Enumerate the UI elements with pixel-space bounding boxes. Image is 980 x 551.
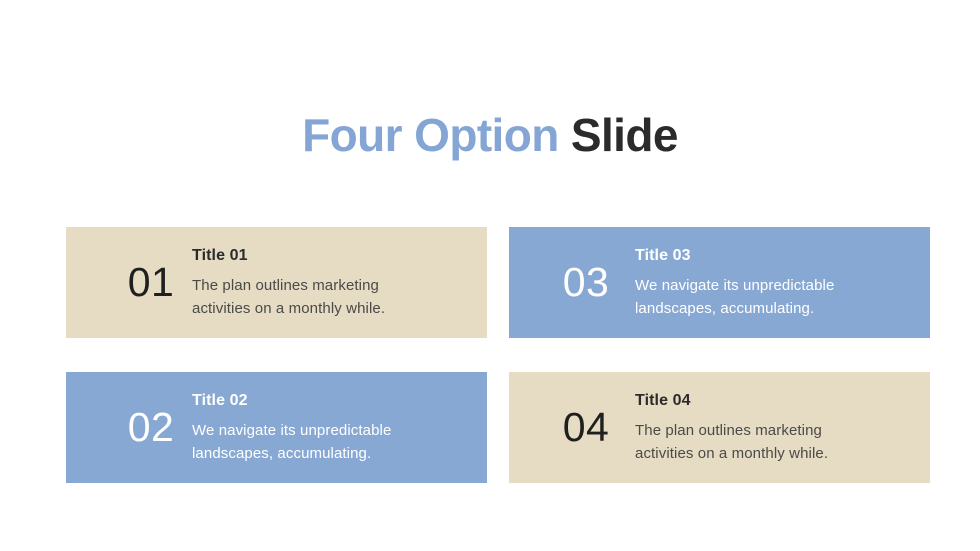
option-card-01[interactable]: 01 Title 01 The plan outlines marketing … — [66, 227, 487, 338]
option-card-02[interactable]: 02 Title 02 We navigate its unpredictabl… — [66, 372, 487, 483]
option-description-01: The plan outlines marketing activities o… — [192, 274, 487, 320]
slide-canvas: Four Option Slide 01 Title 01 The plan o… — [0, 0, 980, 551]
option-number-02: 02 — [114, 407, 188, 448]
option-number-04: 04 — [549, 407, 623, 448]
option-card-04[interactable]: 04 Title 04 The plan outlines marketing … — [509, 372, 930, 483]
option-title-01: Title 01 — [192, 246, 487, 266]
page-title-accent: Four Option — [302, 109, 571, 161]
option-description-03: We navigate its unpredictable landscapes… — [635, 274, 930, 320]
option-title-02: Title 02 — [192, 391, 487, 411]
option-title-03: Title 03 — [635, 246, 930, 266]
option-body-02: Title 02 We navigate its unpredictable l… — [192, 391, 487, 465]
option-description-02: We navigate its unpredictable landscapes… — [192, 419, 487, 465]
option-body-03: Title 03 We navigate its unpredictable l… — [635, 246, 930, 320]
option-title-04: Title 04 — [635, 391, 930, 411]
page-title: Four Option Slide — [0, 107, 980, 163]
option-body-04: Title 04 The plan outlines marketing act… — [635, 391, 930, 465]
option-body-01: Title 01 The plan outlines marketing act… — [192, 246, 487, 320]
option-number-01: 01 — [114, 262, 188, 303]
page-title-main: Slide — [571, 109, 678, 161]
option-card-03[interactable]: 03 Title 03 We navigate its unpredictabl… — [509, 227, 930, 338]
option-description-04: The plan outlines marketing activities o… — [635, 419, 930, 465]
options-grid: 01 Title 01 The plan outlines marketing … — [66, 227, 930, 483]
option-number-03: 03 — [549, 262, 623, 303]
